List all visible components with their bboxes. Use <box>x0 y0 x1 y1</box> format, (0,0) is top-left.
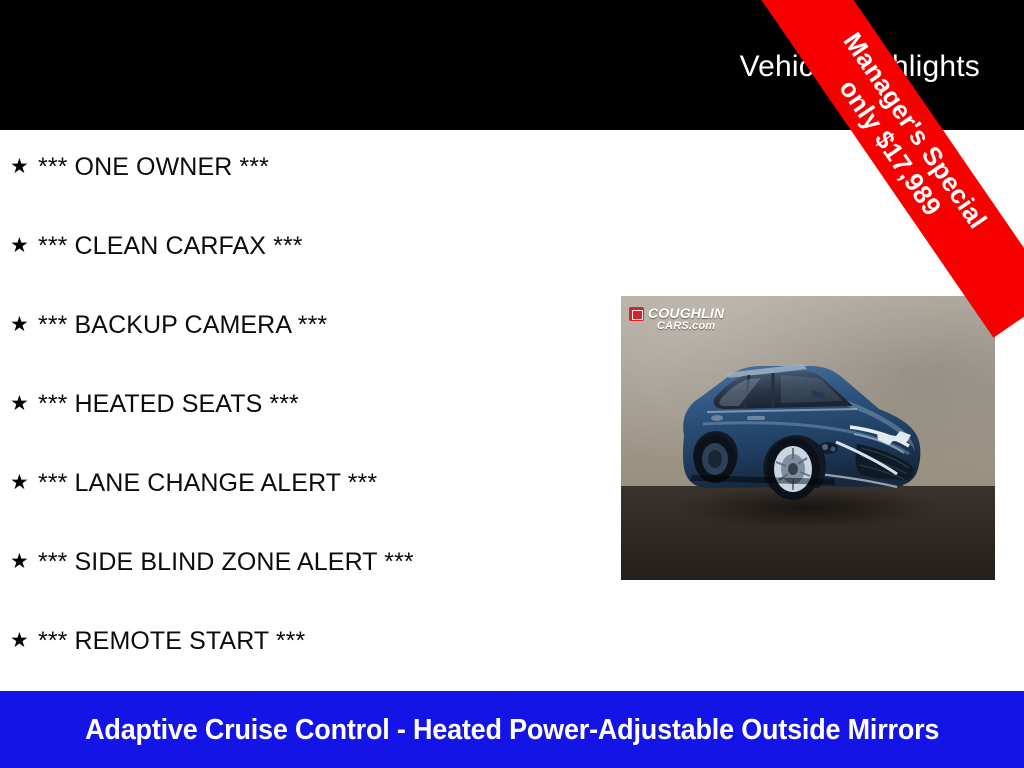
list-item: ★ *** SIDE BLIND ZONE ALERT *** <box>0 547 610 626</box>
list-item-label: *** REMOTE START *** <box>38 626 610 656</box>
list-item: ★ *** ONE OWNER *** <box>0 152 610 231</box>
dealer-site: CARS.com <box>648 321 724 332</box>
list-item-label: *** BACKUP CAMERA *** <box>38 310 610 340</box>
list-item-label: *** LANE CHANGE ALERT *** <box>38 468 610 498</box>
list-item-label: *** SIDE BLIND ZONE ALERT *** <box>38 547 610 577</box>
star-bullet-icon: ★ <box>10 547 38 577</box>
list-item: ★ *** HEATED SEATS *** <box>0 389 610 468</box>
star-bullet-icon: ★ <box>10 231 38 261</box>
list-item-label: *** CLEAN CARFAX *** <box>38 231 610 261</box>
list-item-label: *** HEATED SEATS *** <box>38 389 610 419</box>
footer-banner-text: Adaptive Cruise Control - Heated Power-A… <box>72 711 952 749</box>
list-item: ★ *** CLEAN CARFAX *** <box>0 231 610 310</box>
footer-banner: Adaptive Cruise Control - Heated Power-A… <box>0 691 1024 768</box>
star-bullet-icon: ★ <box>10 626 38 656</box>
coughlin-logo-icon <box>629 307 644 321</box>
vehicle-highlights-list: ★ *** ONE OWNER *** ★ *** CLEAN CARFAX *… <box>0 130 610 705</box>
dealer-watermark-text: COUGHLIN CARS.com <box>648 306 724 332</box>
vehicle-highlights-slide: Vehicle Highlights Manager's Special onl… <box>0 0 1024 768</box>
vehicle-photo: COUGHLIN CARS.com <box>621 296 995 580</box>
list-item: ★ *** LANE CHANGE ALERT *** <box>0 468 610 547</box>
list-item-label: *** ONE OWNER *** <box>38 152 610 182</box>
dealer-watermark: COUGHLIN CARS.com <box>629 306 724 332</box>
star-bullet-icon: ★ <box>10 389 38 419</box>
star-bullet-icon: ★ <box>10 310 38 340</box>
list-item: ★ *** BACKUP CAMERA *** <box>0 310 610 389</box>
star-bullet-icon: ★ <box>10 152 38 182</box>
star-bullet-icon: ★ <box>10 468 38 498</box>
dealer-name: COUGHLIN <box>648 306 724 320</box>
vehicle-illustration <box>621 296 995 580</box>
